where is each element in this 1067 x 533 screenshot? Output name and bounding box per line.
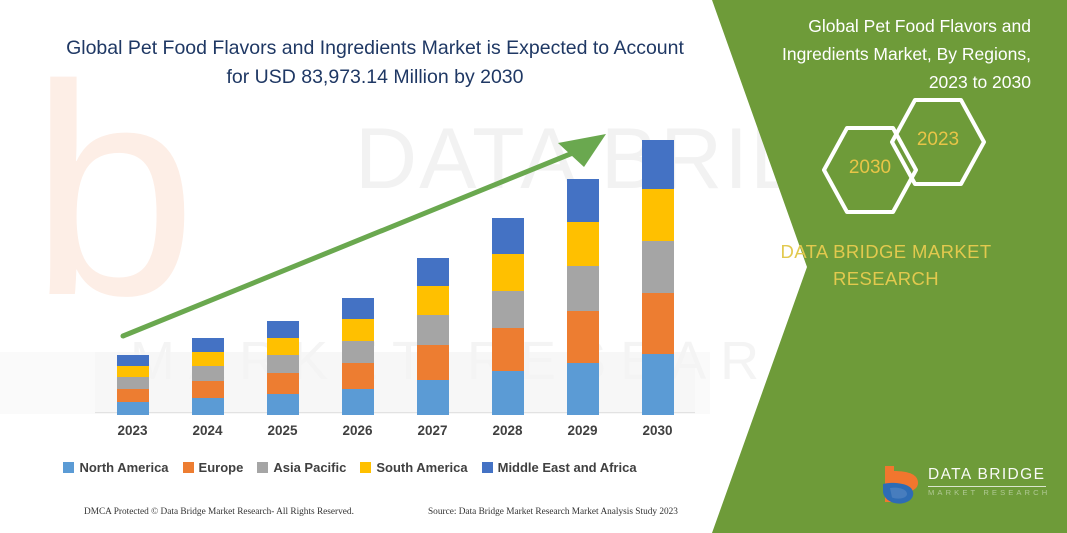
bar-segment (417, 286, 449, 315)
bar-segment (567, 266, 599, 311)
bar-2030 (642, 140, 674, 415)
x-axis-label-2026: 2026 (328, 423, 388, 438)
chart-legend: North AmericaEuropeAsia PacificSouth Ame… (0, 460, 700, 475)
x-axis-label-2028: 2028 (478, 423, 538, 438)
legend-label: South America (376, 460, 467, 475)
hexagon-2030: 2030 (820, 124, 920, 216)
bar-segment (117, 366, 149, 377)
bar-segment (267, 321, 299, 338)
legend-item: Asia Pacific (257, 460, 346, 475)
bar-segment (342, 298, 374, 319)
bar-segment (267, 355, 299, 373)
bar-segment (267, 394, 299, 415)
data-bridge-logo: DATA BRIDGE MARKET RESEARCH (880, 462, 1060, 510)
legend-label: Europe (199, 460, 244, 475)
bar-segment (642, 241, 674, 293)
bar-segment (192, 398, 224, 415)
bar-segment (567, 179, 599, 222)
logo-mark-icon (880, 462, 926, 508)
x-axis-label-2029: 2029 (553, 423, 613, 438)
footer-copyright: DMCA Protected © Data Bridge Market Rese… (84, 507, 354, 517)
x-axis-label-2023: 2023 (103, 423, 163, 438)
bar-segment (417, 258, 449, 286)
bar-segment (192, 352, 224, 366)
bar-segment (417, 345, 449, 380)
bar-2029 (567, 179, 599, 415)
bar-segment (492, 291, 524, 328)
brand-name-text: DATA BRIDGE MARKET RESEARCH (741, 238, 1031, 292)
bar-2026 (342, 298, 374, 415)
bar-2023 (117, 355, 149, 415)
logo-text-primary: DATA BRIDGE (928, 466, 1045, 484)
bar-segment (267, 338, 299, 355)
bar-segment (642, 189, 674, 241)
bar-segment (642, 293, 674, 354)
bar-segment (342, 363, 374, 389)
bar-segment (117, 377, 149, 389)
legend-swatch-icon (63, 462, 74, 473)
infographic-page: b DATA BRIDGE MARKET RESEARCH Global Pet… (0, 0, 1067, 533)
x-axis-label-2024: 2024 (178, 423, 238, 438)
x-axis-labels: 20232024202520262027202820292030 (95, 423, 695, 445)
bar-segment (117, 402, 149, 415)
stacked-bar-chart (95, 100, 695, 415)
bar-2024 (192, 338, 224, 415)
legend-item: South America (360, 460, 467, 475)
legend-item: North America (63, 460, 168, 475)
page-title: Global Pet Food Flavors and Ingredients … (60, 34, 690, 92)
bar-segment (417, 315, 449, 345)
bar-segment (642, 354, 674, 415)
bar-segment (342, 319, 374, 341)
footer-source: Source: Data Bridge Market Research Mark… (428, 507, 678, 517)
bar-segment (417, 380, 449, 415)
legend-label: Asia Pacific (273, 460, 346, 475)
x-axis-label-2030: 2030 (628, 423, 688, 438)
legend-swatch-icon (257, 462, 268, 473)
hexagon-2030-label: 2030 (820, 157, 920, 179)
bar-segment (642, 140, 674, 189)
legend-label: North America (79, 460, 168, 475)
bar-segment (567, 222, 599, 266)
bar-segment (192, 366, 224, 381)
logo-divider (928, 486, 1046, 487)
bar-segment (567, 311, 599, 363)
x-axis-label-2025: 2025 (253, 423, 313, 438)
legend-label: Middle East and Africa (498, 460, 637, 475)
hexagon-group: 2023 2030 (820, 96, 1030, 216)
bar-segment (492, 371, 524, 415)
bar-segment (567, 363, 599, 415)
legend-item: Europe (183, 460, 244, 475)
bar-segment (492, 328, 524, 371)
logo-text-secondary: MARKET RESEARCH (928, 488, 1050, 497)
bar-segment (192, 338, 224, 352)
legend-item: Middle East and Africa (482, 460, 637, 475)
legend-swatch-icon (360, 462, 371, 473)
bar-segment (117, 355, 149, 366)
bar-2027 (417, 258, 449, 415)
bar-segment (492, 254, 524, 291)
bar-2028 (492, 218, 524, 415)
legend-swatch-icon (482, 462, 493, 473)
bar-segment (342, 389, 374, 415)
bar-segment (117, 389, 149, 402)
bar-segment (492, 218, 524, 254)
bar-segment (267, 373, 299, 394)
legend-swatch-icon (183, 462, 194, 473)
x-axis-label-2027: 2027 (403, 423, 463, 438)
bar-2025 (267, 321, 299, 415)
bar-segment (192, 381, 224, 398)
right-panel-title: Global Pet Food Flavors and Ingredients … (741, 12, 1031, 96)
bar-segment (342, 341, 374, 363)
